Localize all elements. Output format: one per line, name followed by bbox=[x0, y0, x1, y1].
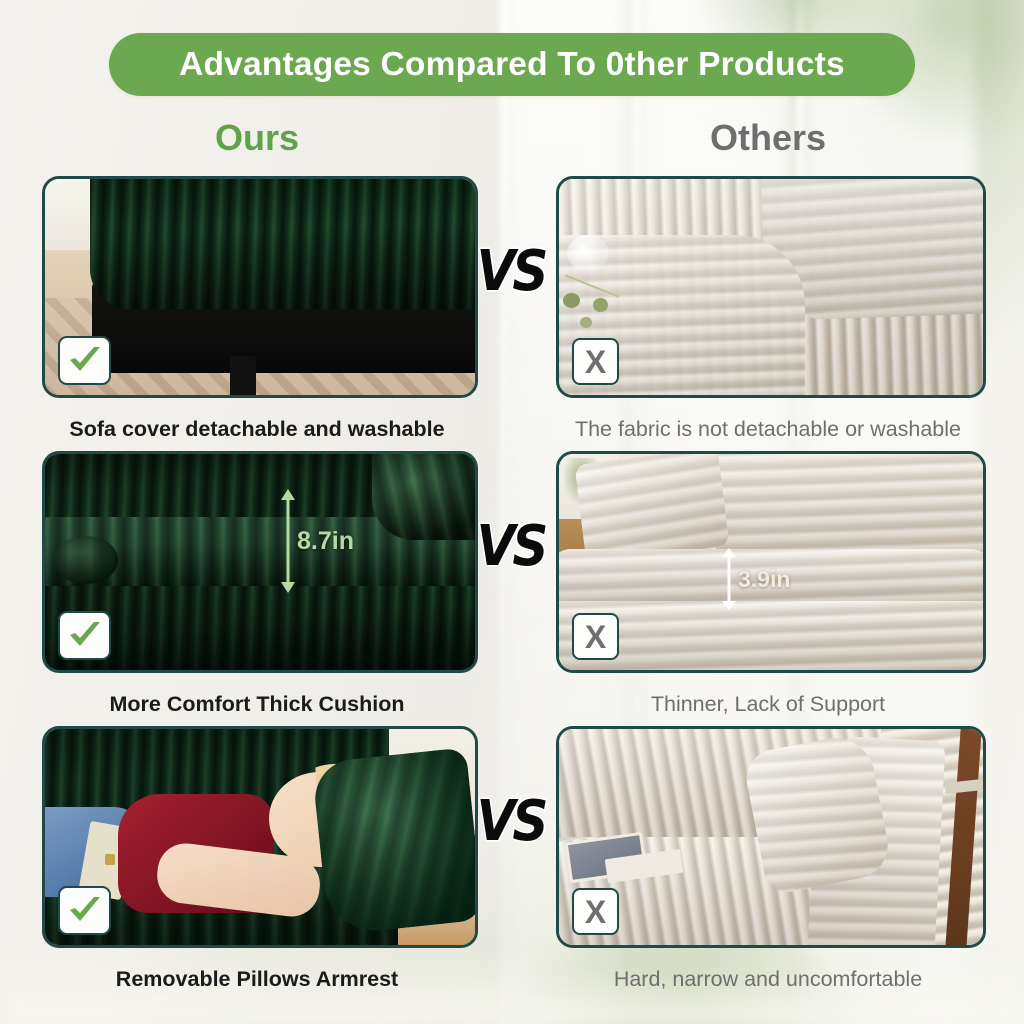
ours-image-card bbox=[42, 176, 478, 398]
measure-arrow-icon bbox=[722, 548, 736, 610]
cross-icon: X bbox=[585, 621, 606, 653]
advantage-check-badge bbox=[58, 886, 111, 935]
check-icon bbox=[68, 346, 102, 376]
others-image-card: X bbox=[556, 176, 986, 398]
measure-arrow-icon bbox=[281, 489, 295, 593]
ours-measurement-label: 8.7in bbox=[297, 529, 354, 554]
window-mullion bbox=[500, 0, 509, 1024]
belt-buckle bbox=[105, 854, 115, 865]
others-photo bbox=[559, 729, 983, 945]
others-caption: Hard, narrow and uncomfortable bbox=[556, 969, 980, 991]
ours-measurement: 8.7in bbox=[281, 489, 354, 593]
vs-divider-badge: VS bbox=[470, 513, 552, 579]
others-caption: The fabric is not detachable or washable bbox=[556, 419, 980, 441]
cross-icon: X bbox=[585, 896, 606, 928]
disadvantage-cross-badge: X bbox=[572, 613, 619, 660]
others-image-card: 3.9in X bbox=[556, 451, 986, 673]
advantage-check-badge bbox=[58, 611, 111, 660]
ours-caption: More Comfort Thick Cushion bbox=[42, 694, 472, 716]
vs-divider-badge: VS bbox=[470, 788, 552, 854]
check-icon bbox=[68, 621, 102, 651]
cross-icon: X bbox=[585, 346, 606, 378]
check-icon bbox=[68, 896, 102, 926]
vs-label: VS bbox=[477, 243, 546, 299]
disadvantage-cross-badge: X bbox=[572, 338, 619, 385]
ours-caption: Removable Pillows Armrest bbox=[42, 969, 472, 991]
page-title: Advantages Compared To 0ther Products bbox=[179, 46, 845, 84]
column-header-others: Others bbox=[556, 117, 980, 159]
armrest-roll bbox=[54, 536, 119, 584]
others-caption: Thinner, Lack of Support bbox=[556, 694, 980, 716]
ours-image-card: 8.7in bbox=[42, 451, 478, 673]
ours-image-card bbox=[42, 726, 478, 948]
ours-caption: Sofa cover detachable and washable bbox=[42, 419, 472, 441]
flower-bud bbox=[593, 298, 608, 312]
others-measurement-label: 3.9in bbox=[738, 568, 790, 591]
advantage-check-badge bbox=[58, 336, 111, 385]
vs-label: VS bbox=[477, 518, 546, 574]
sofa-leg bbox=[230, 356, 256, 395]
column-header-ours: Ours bbox=[42, 117, 472, 159]
disadvantage-cross-badge: X bbox=[572, 888, 619, 935]
page-title-banner: Advantages Compared To 0ther Products bbox=[109, 33, 915, 96]
vs-divider-badge: VS bbox=[470, 238, 552, 304]
vs-label: VS bbox=[477, 793, 546, 849]
others-measurement: 3.9in bbox=[722, 548, 790, 610]
others-image-card: X bbox=[556, 726, 986, 948]
others-photo bbox=[559, 179, 983, 395]
